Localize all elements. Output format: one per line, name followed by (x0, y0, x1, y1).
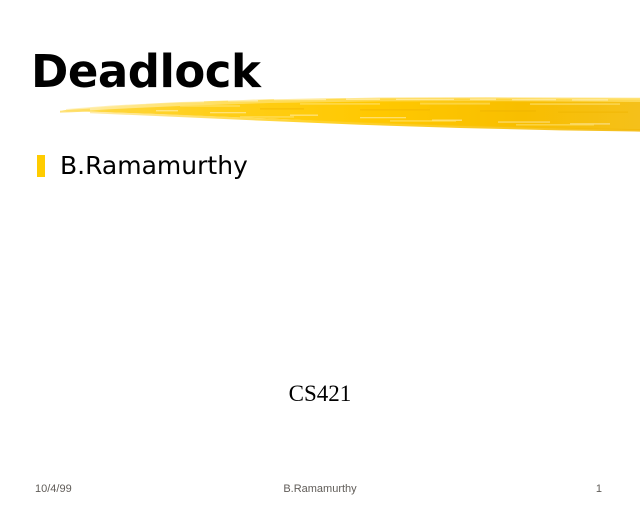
course-code-text: CS421 (0, 381, 640, 407)
slide-title: Deadlock (31, 49, 260, 94)
bullet-list-item: B.Ramamurthy (37, 150, 248, 182)
presentation-slide: Deadlock (0, 0, 640, 512)
slide-footer: 10/4/99 B.Ramamurthy 1 (0, 482, 640, 498)
bullet-item-label: B.Ramamurthy (60, 152, 248, 180)
footer-page-number: 1 (596, 482, 602, 496)
square-bullet-icon (37, 155, 45, 177)
footer-author: B.Ramamurthy (0, 482, 640, 496)
